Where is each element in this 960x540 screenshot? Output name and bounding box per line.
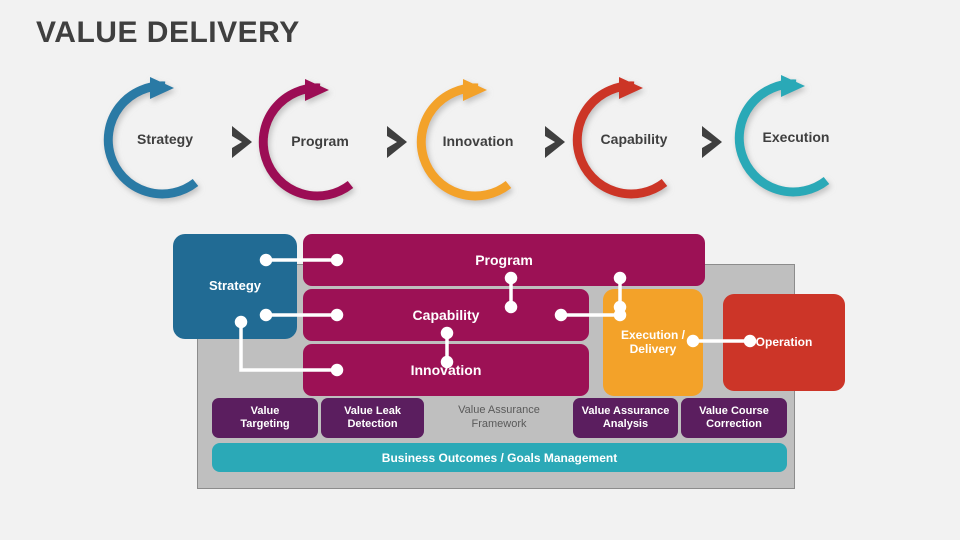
small-box-label-line2: Detection	[347, 418, 397, 430]
cycle-node-program[interactable]: Program	[255, 77, 385, 207]
framework-box-label: Strategy	[209, 279, 261, 294]
small-box-label-line1: Value Assurance	[582, 405, 670, 417]
value-delivery-cycle: Strategy Program	[0, 70, 960, 215]
vaf-label-text: Value Assurance Framework	[458, 404, 540, 432]
framework-box-label-line1: Execution /	[621, 329, 685, 343]
framework-box-label: Program	[475, 252, 533, 268]
framework-box-capability[interactable]: Capability	[303, 289, 589, 341]
cycle-node-label: Capability	[569, 75, 699, 205]
slide-canvas: VALUE DELIVERY Strategy	[0, 0, 960, 540]
small-box-label-line1: Value	[251, 405, 280, 417]
page-title: VALUE DELIVERY	[36, 16, 300, 50]
framework-box-label: Operation	[756, 336, 813, 350]
chevron-right-icon-0	[230, 124, 256, 160]
framework-box-label-line2: Delivery	[630, 343, 677, 357]
cycle-node-label: Execution	[731, 73, 861, 203]
cycle-node-label: Innovation	[413, 77, 543, 207]
small-box-value-assurance-analysis[interactable]: Value Assurance Analysis	[573, 398, 678, 438]
small-box-value-targeting[interactable]: Value Targeting	[212, 398, 318, 438]
framework-box-innovation[interactable]: Innovation	[303, 344, 589, 396]
small-box-label-line2: Targeting	[240, 418, 289, 430]
small-box-label: Value Course Correction	[699, 405, 769, 431]
small-box-label: Value Assurance Analysis	[582, 405, 670, 431]
cycle-node-label: Strategy	[100, 75, 230, 205]
small-box-label-line1: Value Course	[699, 405, 769, 417]
framework-box-execution-delivery[interactable]: Execution / Delivery	[603, 289, 703, 396]
chevron-right-icon-2	[543, 124, 569, 160]
cycle-node-execution[interactable]: Execution	[731, 73, 861, 203]
framework-box-label: Capability	[413, 307, 480, 323]
business-outcomes-bar[interactable]: Business Outcomes / Goals Management	[212, 443, 787, 472]
value-assurance-framework-label: Value Assurance Framework	[428, 398, 570, 438]
small-box-label: Value Targeting	[240, 405, 289, 431]
framework-box-operation[interactable]: Operation	[723, 294, 845, 391]
cycle-node-capability[interactable]: Capability	[569, 75, 699, 205]
cycle-node-label: Program	[255, 77, 385, 207]
small-box-label-line2: Analysis	[603, 418, 648, 430]
framework-box-program[interactable]: Program	[303, 234, 705, 286]
chevron-right-icon-1	[385, 124, 411, 160]
cycle-node-innovation[interactable]: Innovation	[413, 77, 543, 207]
vaf-label-line2: Framework	[471, 418, 526, 430]
small-box-value-course-correction[interactable]: Value Course Correction	[681, 398, 787, 438]
cycle-node-strategy[interactable]: Strategy	[100, 75, 230, 205]
small-box-label-line1: Value Leak	[344, 405, 401, 417]
framework-box-strategy[interactable]: Strategy	[173, 234, 297, 339]
framework-box-label: Innovation	[411, 362, 482, 378]
vaf-label-line1: Value Assurance	[458, 404, 540, 416]
small-box-label: Value Leak Detection	[344, 405, 401, 431]
chevron-right-icon-3	[700, 124, 726, 160]
small-box-value-leak-detection[interactable]: Value Leak Detection	[321, 398, 424, 438]
business-outcomes-label: Business Outcomes / Goals Management	[382, 451, 617, 465]
small-box-label-line2: Correction	[706, 418, 762, 430]
